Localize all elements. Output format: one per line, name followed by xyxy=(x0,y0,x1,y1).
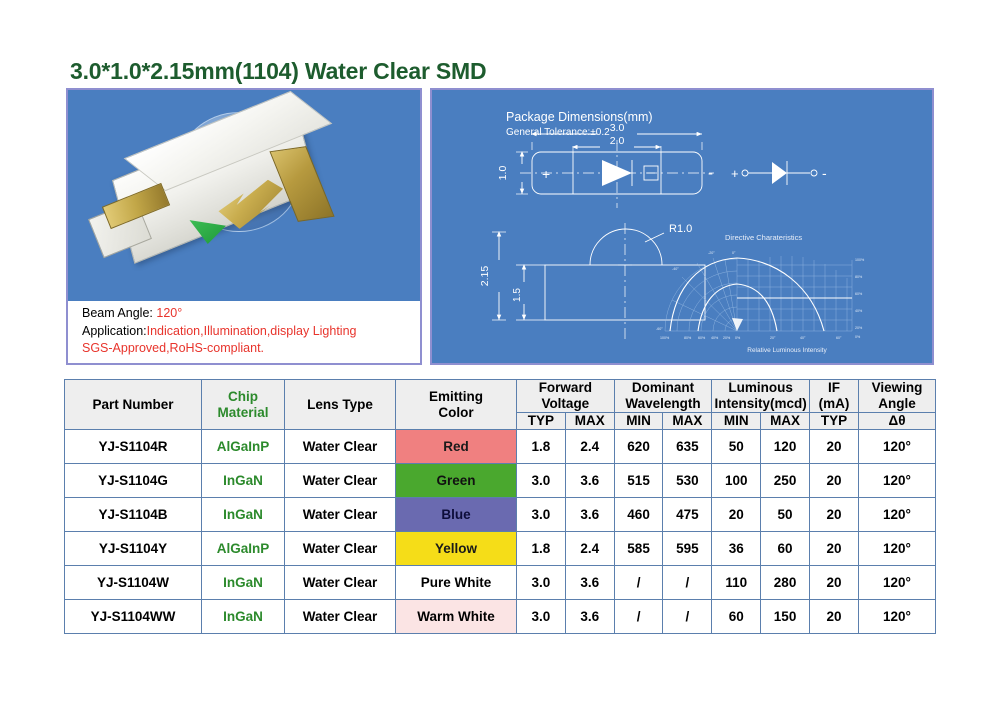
table-row: YJ-S1104YAlGaInPWater ClearYellow1.82.45… xyxy=(65,532,936,566)
application-label: Application: xyxy=(82,324,147,338)
cell-part-number: YJ-S1104W xyxy=(65,566,202,600)
dim-height-overall: 2.15 xyxy=(479,266,491,287)
dim-length-inner: 2.0 xyxy=(610,135,625,147)
header-lens-type: Lens Type xyxy=(285,380,396,430)
header-forward-voltage-line2: Voltage xyxy=(541,396,589,411)
cell-emitting-color: Yellow xyxy=(396,532,517,566)
cell-chip-material: InGaN xyxy=(202,566,285,600)
cell-vf-typ: 3.0 xyxy=(517,566,566,600)
header-emitting-color-line1: Emitting xyxy=(429,389,483,404)
header-iv-max: MAX xyxy=(761,413,810,430)
header-vf-typ: TYP xyxy=(517,413,566,430)
svg-text:60%: 60% xyxy=(698,336,706,340)
header-if-line2: (mA) xyxy=(819,396,850,411)
cell-if-typ: 20 xyxy=(810,498,859,532)
cell-iv-max: 60 xyxy=(761,532,810,566)
product-photo-panel: Beam Angle: 120° Application:Indication,… xyxy=(66,88,422,365)
cell-if-typ: 20 xyxy=(810,464,859,498)
cell-vf-max: 3.6 xyxy=(565,464,614,498)
specification-table-body: YJ-S1104RAlGaInPWater ClearRed1.82.46206… xyxy=(65,430,936,634)
cell-part-number: YJ-S1104Y xyxy=(65,532,202,566)
cell-part-number: YJ-S1104R xyxy=(65,430,202,464)
cell-iv-min: 110 xyxy=(712,566,761,600)
cell-lens-type: Water Clear xyxy=(285,566,396,600)
cell-lens-type: Water Clear xyxy=(285,464,396,498)
cell-viewing-angle: 120° xyxy=(859,566,936,600)
cell-part-number: YJ-S1104B xyxy=(65,498,202,532)
cell-iv-max: 50 xyxy=(761,498,810,532)
header-part-number: Part Number xyxy=(65,380,202,430)
svg-text:80%: 80% xyxy=(684,336,692,340)
polar-chart: 0° -20° -40° -60° 100% 80% 60% 40% 20% 0… xyxy=(656,251,865,354)
table-row: YJ-S1104GInGaNWater ClearGreen3.03.65155… xyxy=(65,464,936,498)
cell-lens-type: Water Clear xyxy=(285,600,396,634)
dim-lens-radius: R1.0 xyxy=(669,223,692,235)
dim-width: 1.0 xyxy=(497,166,509,181)
cell-viewing-angle: 120° xyxy=(859,430,936,464)
svg-text:0%: 0% xyxy=(855,335,861,339)
header-forward-voltage-line1: Forward xyxy=(539,380,592,395)
cell-wl-max: 475 xyxy=(663,498,712,532)
svg-text:20%: 20% xyxy=(855,326,863,330)
cell-wl-min: 620 xyxy=(614,430,663,464)
cell-vf-typ: 3.0 xyxy=(517,464,566,498)
svg-text:60%: 60% xyxy=(855,292,863,296)
cell-wl-max: / xyxy=(663,600,712,634)
page-title: 3.0*1.0*2.15mm(1104) Water Clear SMD xyxy=(70,58,486,85)
svg-text:40°: 40° xyxy=(800,336,806,340)
cell-part-number: YJ-S1104WW xyxy=(65,600,202,634)
cell-wl-min: / xyxy=(614,566,663,600)
cell-lens-type: Water Clear xyxy=(285,532,396,566)
header-viewing-angle-line1: Viewing xyxy=(872,380,923,395)
cell-iv-min: 36 xyxy=(712,532,761,566)
top-view-anode-mark: + xyxy=(542,166,550,182)
cell-chip-material: InGaN xyxy=(202,498,285,532)
beam-angle-label: Beam Angle: xyxy=(82,306,153,320)
cell-viewing-angle: 120° xyxy=(859,464,936,498)
header-iv-min: MIN xyxy=(712,413,761,430)
cell-vf-max: 2.4 xyxy=(565,532,614,566)
beam-angle-line: Beam Angle: 120° xyxy=(82,305,420,323)
cell-vf-typ: 3.0 xyxy=(517,498,566,532)
cell-iv-max: 150 xyxy=(761,600,810,634)
cell-if-typ: 20 xyxy=(810,566,859,600)
cell-if-typ: 20 xyxy=(810,430,859,464)
top-view-cathode-mark: - xyxy=(708,165,713,182)
package-dimension-drawing: + - 3.0 2.0 1.0 + - xyxy=(432,90,932,363)
cell-vf-typ: 1.8 xyxy=(517,430,566,464)
header-wl-max: MAX xyxy=(663,413,712,430)
cell-emitting-color: Pure White xyxy=(396,566,517,600)
polar-chart-title: Directive Charateristics xyxy=(725,233,802,242)
svg-text:0%: 0% xyxy=(735,336,741,340)
svg-text:40%: 40% xyxy=(711,336,719,340)
header-forward-voltage: Forward Voltage xyxy=(517,380,615,413)
header-chip-material: Chip Material xyxy=(202,380,285,430)
header-dominant-wavelength-line1: Dominant xyxy=(632,380,694,395)
package-drawing-panel: Package Dimensions(mm) General Tolerance… xyxy=(430,88,934,365)
header-emitting-color: Emitting Color xyxy=(396,380,517,430)
cell-lens-type: Water Clear xyxy=(285,498,396,532)
header-angle-symbol: Δθ xyxy=(859,413,936,430)
svg-text:-40°: -40° xyxy=(672,267,679,271)
cell-emitting-color: Red xyxy=(396,430,517,464)
cell-chip-material: InGaN xyxy=(202,600,285,634)
svg-text:0°: 0° xyxy=(732,251,736,255)
header-wl-min: MIN xyxy=(614,413,663,430)
header-if-typ: TYP xyxy=(810,413,859,430)
cell-iv-min: 60 xyxy=(712,600,761,634)
cell-viewing-angle: 120° xyxy=(859,498,936,532)
cell-emitting-color: Blue xyxy=(396,498,517,532)
cell-iv-max: 280 xyxy=(761,566,810,600)
cell-wl-max: 530 xyxy=(663,464,712,498)
cell-wl-min: 585 xyxy=(614,532,663,566)
cell-iv-min: 50 xyxy=(712,430,761,464)
cell-vf-typ: 3.0 xyxy=(517,600,566,634)
svg-text:-60°: -60° xyxy=(656,327,663,331)
cell-wl-max: 595 xyxy=(663,532,712,566)
cell-iv-max: 250 xyxy=(761,464,810,498)
dim-height-body: 1.5 xyxy=(512,288,523,302)
header-luminous-intensity-line2: Intensity(mcd) xyxy=(715,396,807,411)
cell-chip-material: InGaN xyxy=(202,464,285,498)
svg-text:-20°: -20° xyxy=(708,251,715,255)
cell-wl-min: 515 xyxy=(614,464,663,498)
cell-vf-typ: 1.8 xyxy=(517,532,566,566)
cell-if-typ: 20 xyxy=(810,532,859,566)
svg-text:80%: 80% xyxy=(855,275,863,279)
header-emitting-color-line2: Color xyxy=(438,405,473,420)
photo-caption: Beam Angle: 120° Application:Indication,… xyxy=(68,301,420,363)
header-chip-material-line1: Chip xyxy=(228,389,258,404)
table-row: YJ-S1104RAlGaInPWater ClearRed1.82.46206… xyxy=(65,430,936,464)
table-row: YJ-S1104WInGaNWater ClearPure White3.03.… xyxy=(65,566,936,600)
header-dominant-wavelength-line2: Wavelength xyxy=(625,396,700,411)
header-vf-max: MAX xyxy=(565,413,614,430)
svg-text:20°: 20° xyxy=(770,336,776,340)
header-dominant-wavelength: Dominant Wavelength xyxy=(614,380,712,413)
specification-table: Part Number Chip Material Lens Type Emit… xyxy=(64,379,936,634)
cell-if-typ: 20 xyxy=(810,600,859,634)
cell-iv-max: 120 xyxy=(761,430,810,464)
circuit-minus-mark: - xyxy=(822,165,827,181)
cell-chip-material: AlGaInP xyxy=(202,430,285,464)
table-header-row-1: Part Number Chip Material Lens Type Emit… xyxy=(65,380,936,413)
cell-wl-min: 460 xyxy=(614,498,663,532)
svg-text:60°: 60° xyxy=(836,336,842,340)
svg-text:100%: 100% xyxy=(660,336,670,340)
table-row: YJ-S1104WWInGaNWater ClearWarm White3.03… xyxy=(65,600,936,634)
header-luminous-intensity: Luminous Intensity(mcd) xyxy=(712,380,810,413)
cell-lens-type: Water Clear xyxy=(285,430,396,464)
cell-vf-max: 3.6 xyxy=(565,498,614,532)
header-luminous-intensity-line1: Luminous xyxy=(728,380,793,395)
table-row: YJ-S1104BInGaNWater ClearBlue3.03.646047… xyxy=(65,498,936,532)
cell-iv-min: 20 xyxy=(712,498,761,532)
cell-iv-min: 100 xyxy=(712,464,761,498)
beam-angle-value: 120° xyxy=(156,306,182,320)
cell-vf-max: 2.4 xyxy=(565,430,614,464)
compliance-value: SGS-Approved,RoHS-compliant. xyxy=(82,341,264,355)
cell-part-number: YJ-S1104G xyxy=(65,464,202,498)
compliance-line: SGS-Approved,RoHS-compliant. xyxy=(82,340,420,358)
polar-chart-xlabel: Relative Luminous Intensity xyxy=(747,347,827,354)
cell-viewing-angle: 120° xyxy=(859,532,936,566)
dim-length-overall: 3.0 xyxy=(610,122,625,134)
cell-viewing-angle: 120° xyxy=(859,600,936,634)
header-if-line1: IF xyxy=(828,380,840,395)
cell-wl-max: 635 xyxy=(663,430,712,464)
cell-emitting-color: Green xyxy=(396,464,517,498)
header-chip-material-line2: Material xyxy=(217,405,268,420)
cell-vf-max: 3.6 xyxy=(565,566,614,600)
cell-wl-max: / xyxy=(663,566,712,600)
header-if: IF (mA) xyxy=(810,380,859,413)
svg-text:40%: 40% xyxy=(855,309,863,313)
svg-text:20%: 20% xyxy=(723,336,731,340)
circuit-plus-mark: + xyxy=(731,166,739,181)
svg-text:100%: 100% xyxy=(855,258,865,262)
cell-wl-min: / xyxy=(614,600,663,634)
cell-vf-max: 3.6 xyxy=(565,600,614,634)
application-value: Indication,Illumination,display Lighting xyxy=(147,324,357,338)
application-line: Application:Indication,Illumination,disp… xyxy=(82,323,420,341)
cell-emitting-color: Warm White xyxy=(396,600,517,634)
header-viewing-angle: Viewing Angle xyxy=(859,380,936,413)
smd-led-product-photo xyxy=(68,90,420,301)
cell-chip-material: AlGaInP xyxy=(202,532,285,566)
header-viewing-angle-line2: Angle xyxy=(878,396,916,411)
